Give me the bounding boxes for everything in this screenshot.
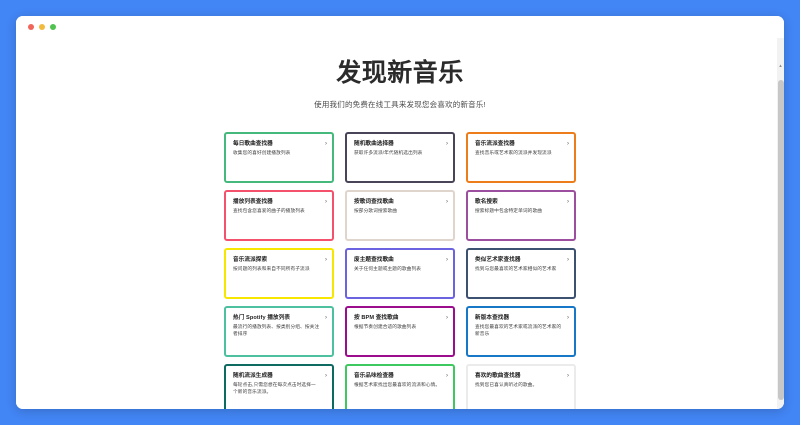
tool-card-description: 查找包含您喜爱的曲子的播放列表 (233, 208, 320, 215)
tool-card[interactable]: 播放列表查找器查找包含您喜爱的曲子的播放列表› (224, 190, 334, 241)
tool-card-title: 每日歌曲查找器 (233, 141, 320, 148)
tool-card-title: 喜欢的歌曲查找器 (475, 373, 562, 380)
chevron-right-icon[interactable]: › (325, 141, 327, 147)
tool-card-description: 获取许多流派/年代随机选出列表 (354, 150, 441, 157)
tool-card-title: 按歌词查找歌曲 (354, 199, 441, 206)
window-maximize-button[interactable] (50, 24, 56, 30)
chevron-right-icon[interactable]: › (325, 199, 327, 205)
chevron-right-icon[interactable]: › (446, 199, 448, 205)
chevron-right-icon[interactable]: › (567, 257, 569, 263)
tool-card-description: 找到与您最喜欢的艺术家相似的艺术家 (475, 266, 562, 273)
tool-card-description: 收集您的喜好创建播放列表 (233, 150, 320, 157)
tool-card-description: 关于任何主题或主题的歌曲列表 (354, 266, 441, 273)
tool-card-description: 查找您最喜欢的艺术家或流派的艺术家的新音乐 (475, 324, 562, 338)
tool-card[interactable]: 按 BPM 查找歌曲根据节奏创建合适的歌曲列表› (345, 306, 455, 357)
tool-card[interactable]: 音乐品味检查器根据艺术家找出您最喜欢的流派和心情。› (345, 364, 455, 409)
tool-card[interactable]: 随机歌曲选择器获取许多流派/年代随机选出列表› (345, 132, 455, 183)
chevron-right-icon[interactable]: › (567, 141, 569, 147)
tool-card-description: 按问题的列表和来自不同所有子流派 (233, 266, 320, 273)
tool-card[interactable]: 热门 Spotify 播放列表最流行的播放列表、按类别分组、按关注者排序› (224, 306, 334, 357)
tool-card-description: 按部分歌词搜索歌曲 (354, 208, 441, 215)
tool-card[interactable]: 类似艺术家查找器找到与您最喜欢的艺术家相似的艺术家› (466, 248, 576, 299)
page-content: 发现新音乐 使用我们的免费在线工具来发现您会喜欢的新音乐! 每日歌曲查找器收集您… (16, 38, 784, 409)
chevron-right-icon[interactable]: › (567, 315, 569, 321)
tool-card-description: 最流行的播放列表、按类别分组、按关注者排序 (233, 324, 320, 338)
tool-card-description: 查找音乐或艺术家的流派并发现流派 (475, 150, 562, 157)
browser-window: 发现新音乐 使用我们的免费在线工具来发现您会喜欢的新音乐! 每日歌曲查找器收集您… (16, 16, 784, 409)
tool-card[interactable]: 音乐流派查找器查找音乐或艺术家的流派并发现流派› (466, 132, 576, 183)
tool-card[interactable]: 随机流派生成器每轮点击,只需您想在每次点击时选择一个新的音乐流派。› (224, 364, 334, 409)
window-minimize-button[interactable] (39, 24, 45, 30)
window-close-button[interactable] (28, 24, 34, 30)
chevron-right-icon[interactable]: › (446, 141, 448, 147)
tool-card[interactable]: 每日歌曲查找器收集您的喜好创建播放列表› (224, 132, 334, 183)
page-scrollbar[interactable]: ▴ (777, 38, 784, 409)
tool-card[interactable]: 按歌词查找歌曲按部分歌词搜索歌曲› (345, 190, 455, 241)
chevron-right-icon[interactable]: › (446, 315, 448, 321)
chevron-right-icon[interactable]: › (567, 199, 569, 205)
scrollbar-thumb[interactable] (778, 80, 784, 400)
page-subtitle: 使用我们的免费在线工具来发现您会喜欢的新音乐! (40, 99, 760, 110)
tool-card[interactable]: 新版本查找器查找您最喜欢的艺术家或流派的艺术家的新音乐› (466, 306, 576, 357)
tool-card-title: 播放列表查找器 (233, 199, 320, 206)
tool-card[interactable]: 喜欢的歌曲查找器找到您已喜认真听过的歌曲。› (466, 364, 576, 409)
tool-card-title: 新版本查找器 (475, 315, 562, 322)
chevron-right-icon[interactable]: › (567, 373, 569, 379)
window-titlebar (16, 16, 784, 38)
scrollbar-up-arrow-icon[interactable]: ▴ (778, 64, 783, 69)
page-viewport: 发现新音乐 使用我们的免费在线工具来发现您会喜欢的新音乐! 每日歌曲查找器收集您… (16, 38, 784, 409)
tool-card-description: 根据艺术家找出您最喜欢的流派和心情。 (354, 382, 441, 389)
chevron-right-icon[interactable]: › (446, 257, 448, 263)
tool-card-title: 歌名搜索 (475, 199, 562, 206)
tool-card-title: 随机流派生成器 (233, 373, 320, 380)
tool-card-title: 废主题查找歌曲 (354, 257, 441, 264)
tool-card[interactable]: 废主题查找歌曲关于任何主题或主题的歌曲列表› (345, 248, 455, 299)
tool-card-title: 类似艺术家查找器 (475, 257, 562, 264)
tool-card-title: 热门 Spotify 播放列表 (233, 315, 320, 322)
tool-card[interactable]: 音乐流派探索按问题的列表和来自不同所有子流派› (224, 248, 334, 299)
chevron-right-icon[interactable]: › (446, 373, 448, 379)
tool-card-description: 找到您已喜认真听过的歌曲。 (475, 382, 562, 389)
chevron-right-icon[interactable]: › (325, 373, 327, 379)
tool-card-title: 音乐流派查找器 (475, 141, 562, 148)
tool-card[interactable]: 歌名搜索搜索标题中包含特定单词的歌曲› (466, 190, 576, 241)
tool-card-title: 按 BPM 查找歌曲 (354, 315, 441, 322)
tool-card-grid: 每日歌曲查找器收集您的喜好创建播放列表›随机歌曲选择器获取许多流派/年代随机选出… (224, 132, 576, 409)
chevron-right-icon[interactable]: › (325, 257, 327, 263)
chevron-right-icon[interactable]: › (325, 315, 327, 321)
tool-card-title: 随机歌曲选择器 (354, 141, 441, 148)
tool-card-title: 音乐流派探索 (233, 257, 320, 264)
tool-card-title: 音乐品味检查器 (354, 373, 441, 380)
tool-card-description: 根据节奏创建合适的歌曲列表 (354, 324, 441, 331)
tool-card-description: 每轮点击,只需您想在每次点击时选择一个新的音乐流派。 (233, 382, 320, 396)
page-title: 发现新音乐 (40, 58, 760, 88)
tool-card-description: 搜索标题中包含特定单词的歌曲 (475, 208, 562, 215)
